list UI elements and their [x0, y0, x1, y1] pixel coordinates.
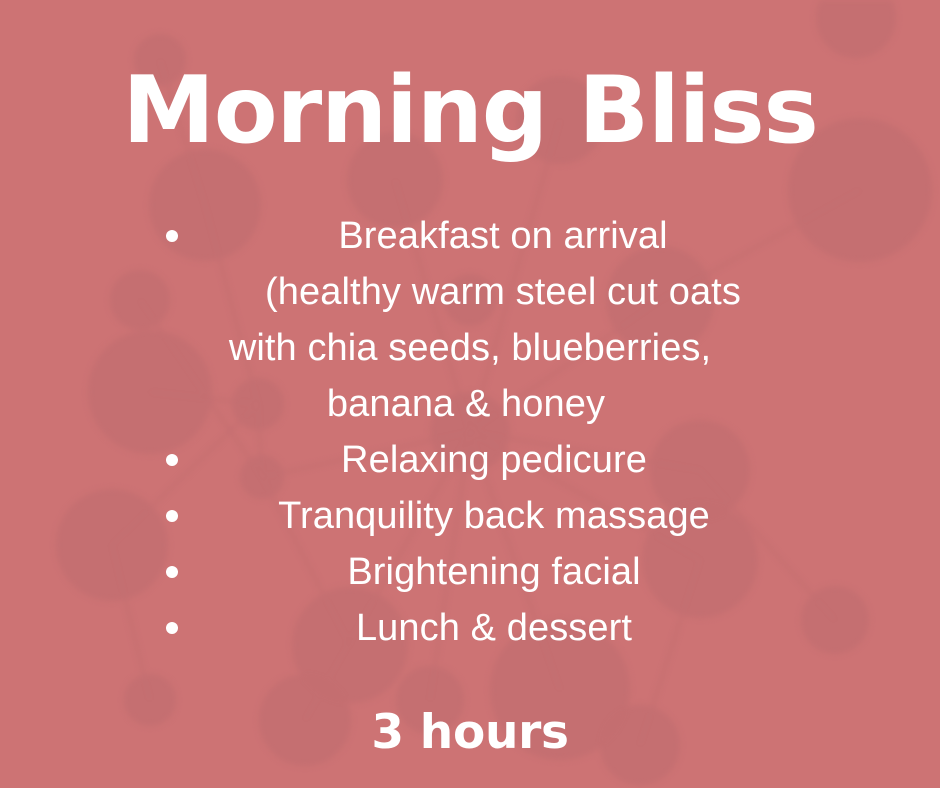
list-item: Relaxing pedicure — [0, 432, 940, 488]
bullet-icon — [166, 454, 178, 466]
list-item-continuation: with chia seeds, blueberries, — [0, 320, 940, 376]
list-item-label: with chia seeds, blueberries, — [229, 320, 711, 376]
bullet-icon — [166, 622, 178, 634]
spa-package-card: Morning Bliss Breakfast on arrival (heal… — [0, 0, 940, 788]
list-item-label: Tranquility back massage — [278, 488, 710, 544]
list-item: Brightening facial — [0, 544, 940, 600]
list-item-label: banana & honey — [327, 376, 605, 432]
list-item: Breakfast on arrival — [0, 208, 940, 264]
list-item-continuation: (healthy warm steel cut oats — [0, 264, 940, 320]
bullet-icon — [166, 230, 178, 242]
bullet-icon — [166, 566, 178, 578]
bullet-icon — [166, 510, 178, 522]
list-item-continuation: banana & honey — [0, 376, 940, 432]
list-item-label: Lunch & dessert — [356, 600, 632, 656]
list-item-label: Relaxing pedicure — [341, 432, 647, 488]
duration-label: 3 hours — [0, 705, 940, 760]
list-item-label: (healthy warm steel cut oats — [265, 264, 741, 320]
package-inclusions-list: Breakfast on arrival (healthy warm steel… — [0, 208, 940, 656]
list-item: Tranquility back massage — [0, 488, 940, 544]
list-item: Lunch & dessert — [0, 600, 940, 656]
page-title: Morning Bliss — [0, 62, 940, 160]
list-item-label: Breakfast on arrival — [338, 208, 667, 264]
list-item-label: Brightening facial — [347, 544, 640, 600]
